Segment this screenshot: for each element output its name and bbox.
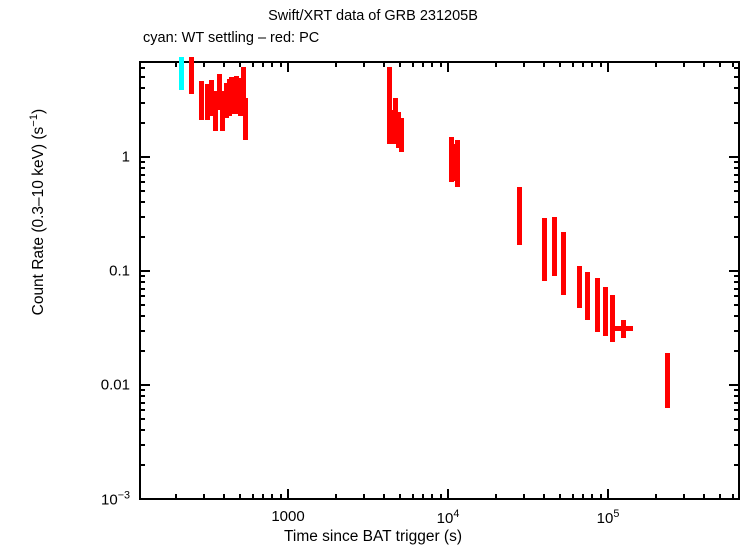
- axis-tick: [271, 494, 273, 500]
- axis-tick: [732, 61, 734, 67]
- axis-tick: [335, 61, 337, 67]
- axis-tick: [271, 61, 273, 67]
- error-bar-vertical: [561, 232, 566, 295]
- axis-tick: [734, 304, 740, 306]
- axis-tick: [262, 61, 264, 67]
- axis-tick: [139, 304, 145, 306]
- axis-tick: [363, 61, 365, 67]
- axis-tick: [734, 409, 740, 411]
- axis-tick: [607, 489, 609, 500]
- axis-tick: [734, 67, 740, 69]
- axis-tick: [139, 167, 145, 169]
- axis-tick: [399, 61, 401, 67]
- error-bar-vertical: [517, 187, 522, 245]
- axis-tick: [734, 190, 740, 192]
- axis-tick: [175, 61, 177, 67]
- axis-tick: [139, 498, 150, 500]
- axis-tick: [559, 61, 561, 67]
- error-bar-vertical: [542, 218, 547, 281]
- axis-tick: [734, 281, 740, 283]
- axis-tick: [447, 489, 449, 500]
- axis-tick: [412, 61, 414, 67]
- axis-tick: [139, 76, 145, 78]
- axis-tick: [655, 494, 657, 500]
- axis-tick: [729, 270, 740, 272]
- axis-tick: [734, 275, 740, 277]
- axis-tick: [719, 494, 721, 500]
- x-tick-label: 1000: [271, 508, 304, 525]
- axis-tick: [703, 61, 705, 67]
- axis-tick: [139, 67, 145, 69]
- axis-tick: [719, 61, 721, 67]
- axis-tick: [734, 429, 740, 431]
- axis-tick: [440, 494, 442, 500]
- axis-tick: [582, 494, 584, 500]
- axis-tick: [683, 494, 685, 500]
- chart-subtitle: cyan: WT settling – red: PC: [0, 30, 746, 46]
- axis-tick: [139, 295, 145, 297]
- error-bar-vertical: [610, 295, 615, 341]
- axis-tick: [734, 402, 740, 404]
- axis-tick: [591, 494, 593, 500]
- axis-tick: [139, 281, 145, 283]
- axis-tick: [572, 494, 574, 500]
- axis-tick: [139, 190, 145, 192]
- axis-tick: [734, 102, 740, 104]
- axis-tick: [440, 61, 442, 67]
- axis-tick: [139, 409, 145, 411]
- error-bar-vertical: [585, 272, 590, 320]
- axis-tick: [363, 494, 365, 500]
- axis-tick: [239, 61, 241, 67]
- axis-tick: [734, 389, 740, 391]
- axis-tick: [252, 494, 254, 500]
- axis-tick: [383, 61, 385, 67]
- axis-tick: [734, 288, 740, 290]
- axis-tick: [734, 216, 740, 218]
- error-bar-vertical: [399, 118, 404, 152]
- error-bar-vertical: [665, 353, 670, 408]
- axis-tick: [447, 61, 449, 72]
- axis-tick: [383, 494, 385, 500]
- axis-tick: [139, 384, 150, 386]
- axis-tick: [139, 402, 145, 404]
- axis-tick: [139, 389, 145, 391]
- axis-tick: [139, 315, 145, 317]
- axis-tick: [223, 61, 225, 67]
- axis-tick: [139, 330, 145, 332]
- axis-tick: [139, 181, 145, 183]
- axis-tick: [139, 201, 145, 203]
- axis-tick: [287, 489, 289, 500]
- axis-tick: [431, 494, 433, 500]
- error-bar-vertical: [243, 98, 248, 140]
- axis-tick: [203, 61, 205, 67]
- error-bar-vertical: [595, 278, 600, 332]
- axis-tick: [287, 61, 289, 72]
- axis-tick: [655, 61, 657, 67]
- axis-tick: [139, 87, 145, 89]
- axis-tick: [495, 494, 497, 500]
- axis-tick: [607, 61, 609, 72]
- axis-tick: [280, 61, 282, 67]
- axis-tick: [262, 494, 264, 500]
- axis-tick: [280, 494, 282, 500]
- axis-tick: [203, 494, 205, 500]
- axis-tick: [734, 395, 740, 397]
- axis-tick: [139, 429, 145, 431]
- axis-tick: [139, 464, 145, 466]
- axis-tick: [139, 395, 145, 397]
- axis-tick: [175, 494, 177, 500]
- axis-tick: [572, 61, 574, 67]
- axis-tick: [239, 494, 241, 500]
- axis-tick: [422, 494, 424, 500]
- error-bar-vertical: [179, 57, 184, 90]
- axis-tick: [729, 384, 740, 386]
- axis-tick: [734, 236, 740, 238]
- axis-tick: [523, 61, 525, 67]
- axis-tick: [139, 288, 145, 290]
- axis-tick: [139, 275, 145, 277]
- y-axis-title: Count Rate (0.3–10 keV) (s−1): [28, 22, 48, 402]
- axis-tick: [559, 494, 561, 500]
- x-axis-title: Time since BAT trigger (s): [0, 528, 746, 546]
- error-bar-vertical: [552, 217, 557, 277]
- axis-tick: [734, 87, 740, 89]
- axis-tick: [734, 464, 740, 466]
- axis-tick: [734, 418, 740, 420]
- axis-tick: [734, 76, 740, 78]
- axis-tick: [495, 61, 497, 67]
- axis-tick: [734, 444, 740, 446]
- axis-tick: [139, 270, 150, 272]
- axis-tick: [734, 295, 740, 297]
- axis-tick: [335, 494, 337, 500]
- axis-tick: [729, 156, 740, 158]
- axis-tick: [591, 61, 593, 67]
- x-tick-label: 104: [437, 508, 460, 527]
- axis-tick: [139, 444, 145, 446]
- axis-tick: [543, 61, 545, 67]
- axis-tick: [582, 61, 584, 67]
- y-tick-label: 0.1: [60, 263, 130, 280]
- y-tick-label: 0.01: [60, 377, 130, 394]
- axis-tick: [139, 174, 145, 176]
- axis-tick: [139, 161, 145, 163]
- axis-tick: [139, 122, 145, 124]
- axis-tick: [139, 216, 145, 218]
- axis-tick: [734, 161, 740, 163]
- error-bar-vertical: [577, 266, 582, 308]
- axis-tick: [703, 494, 705, 500]
- error-bar-vertical: [603, 287, 608, 336]
- axis-tick: [139, 236, 145, 238]
- axis-tick: [139, 102, 145, 104]
- axis-tick: [734, 201, 740, 203]
- error-bar-vertical: [455, 140, 460, 186]
- axis-tick: [431, 61, 433, 67]
- error-bar-vertical: [189, 57, 194, 94]
- axis-tick: [683, 61, 685, 67]
- axis-tick: [412, 494, 414, 500]
- axis-tick: [139, 156, 150, 158]
- axis-tick: [600, 61, 602, 67]
- axis-tick: [139, 350, 145, 352]
- y-tick-label: 10−3: [60, 490, 130, 509]
- axis-tick: [734, 174, 740, 176]
- plot-area: [139, 61, 740, 500]
- axis-tick: [223, 494, 225, 500]
- axis-tick: [729, 498, 740, 500]
- axis-tick: [734, 350, 740, 352]
- axis-tick: [734, 122, 740, 124]
- chart-title: Swift/XRT data of GRB 231205B: [0, 8, 746, 24]
- axis-tick: [600, 494, 602, 500]
- y-tick-label: 1: [60, 149, 130, 166]
- axis-tick: [139, 418, 145, 420]
- axis-tick: [734, 315, 740, 317]
- axis-tick: [422, 61, 424, 67]
- error-bar-horizontal: [615, 326, 633, 331]
- axis-tick: [523, 494, 525, 500]
- axis-tick: [734, 330, 740, 332]
- axis-tick: [734, 167, 740, 169]
- x-tick-label: 105: [597, 508, 620, 527]
- axis-tick: [399, 494, 401, 500]
- axis-tick: [252, 61, 254, 67]
- axis-tick: [734, 181, 740, 183]
- axis-tick: [543, 494, 545, 500]
